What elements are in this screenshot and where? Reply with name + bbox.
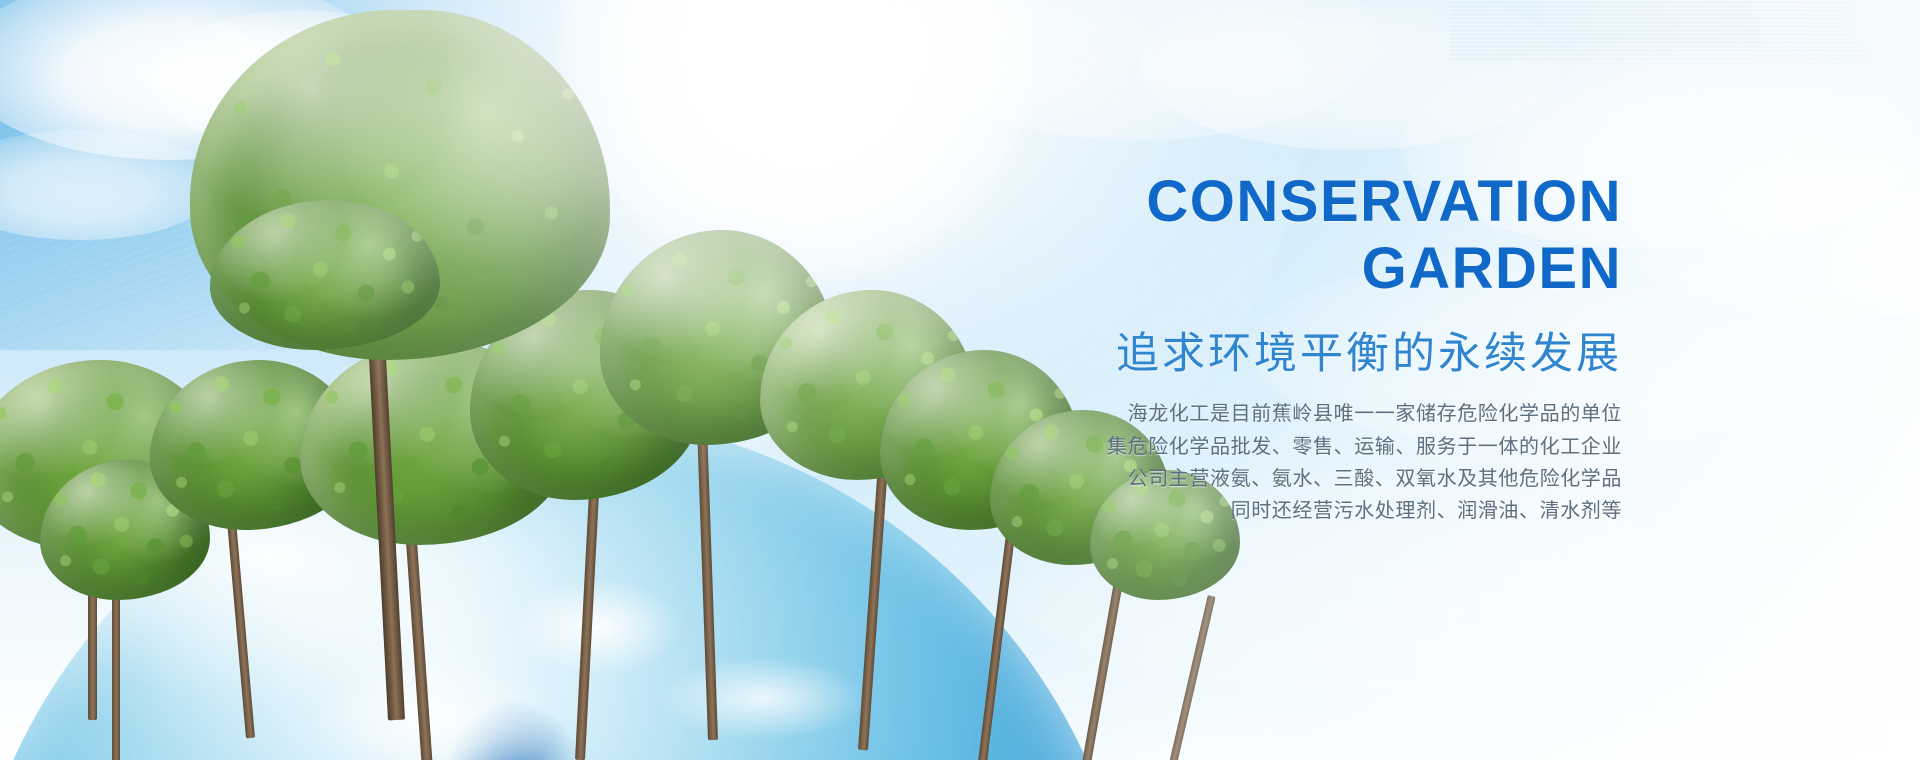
horizontal-scanlines <box>1450 0 1920 60</box>
banner-copy: CONSERVATION GARDEN 追求环境平衡的永续发展 海龙化工是目前蕉… <box>922 168 1622 528</box>
hero-banner: CONSERVATION GARDEN 追求环境平衡的永续发展 海龙化工是目前蕉… <box>0 0 1920 760</box>
subheadline: 追求环境平衡的永续发展 <box>922 329 1622 381</box>
description-block: 海龙化工是目前蕉岭县唯一一家储存危险化学品的单位 集危险化学品批发、零售、运输、… <box>922 398 1622 528</box>
description-line: 公司主营液氨、氨水、三酸、双氧水及其他危险化学品 <box>922 463 1622 495</box>
description-line: 同时还经营污水处理剂、润滑油、清水剂等 <box>922 495 1622 527</box>
page-title: CONSERVATION GARDEN <box>922 168 1622 303</box>
description-line: 集危险化学品批发、零售、运输、服务于一体的化工企业 <box>922 431 1622 463</box>
description-line: 海龙化工是目前蕉岭县唯一一家储存危险化学品的单位 <box>922 398 1622 430</box>
headline-line-2: GARDEN <box>922 235 1622 302</box>
headline-line-1: CONSERVATION <box>1146 169 1622 234</box>
